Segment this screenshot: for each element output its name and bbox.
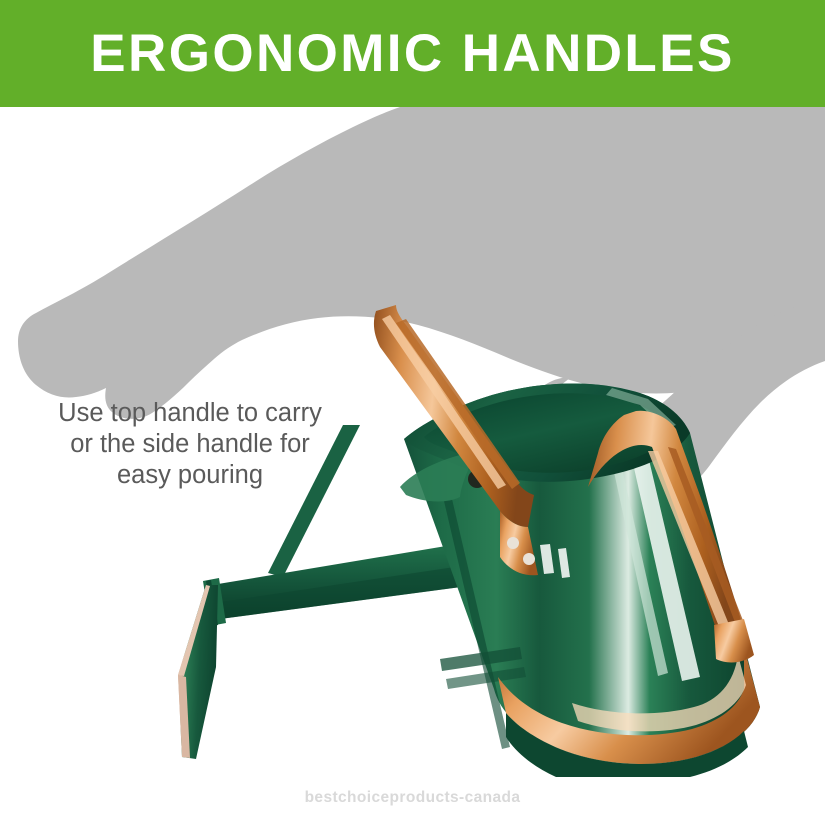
side-handle-foot <box>714 619 754 662</box>
infographic-page: ERGONOMIC HANDLES <box>0 0 825 825</box>
top-handle-rivet-b <box>523 553 535 565</box>
caption-line-3: easy pouring <box>20 460 360 491</box>
page-title: ERGONOMIC HANDLES <box>90 27 734 80</box>
header-banner: ERGONOMIC HANDLES <box>0 0 825 107</box>
caption-line-1: Use top handle to carry <box>20 398 360 429</box>
brand-watermark: bestchoiceproducts-canada <box>0 789 825 807</box>
caption-line-2: or the side handle for <box>20 429 360 460</box>
caption-text: Use top handle to carry or the side hand… <box>20 398 360 491</box>
top-handle-rivet-a <box>507 537 519 549</box>
